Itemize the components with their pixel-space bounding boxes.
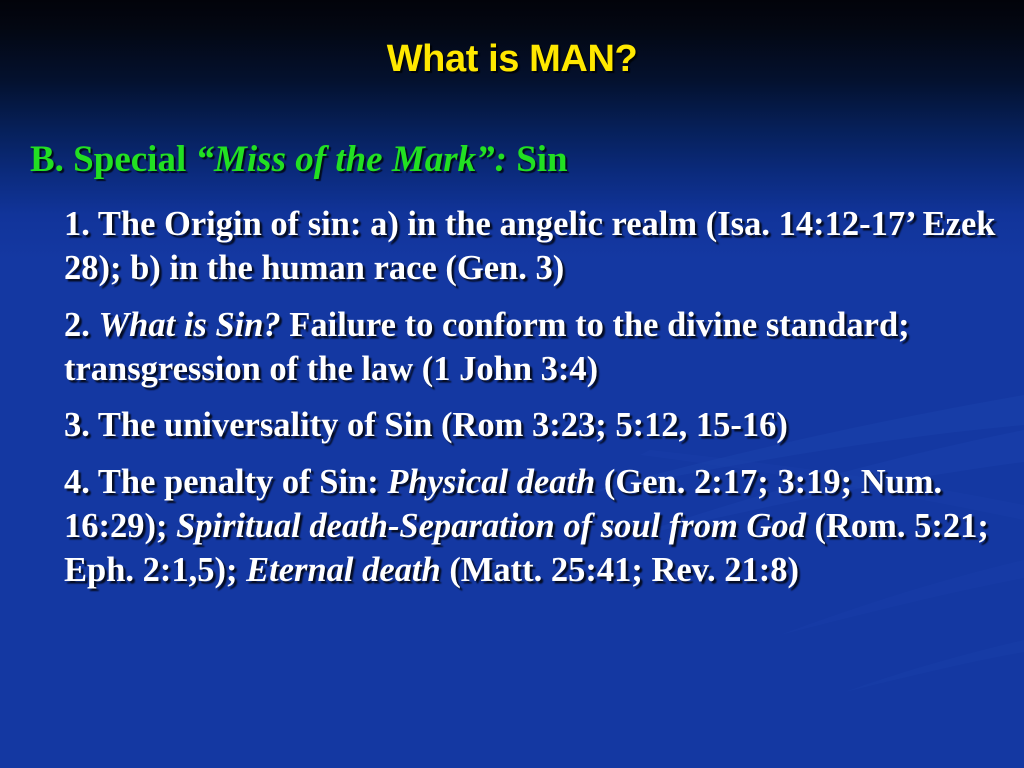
list-item: 4. The penalty of Sin: Physical death (G…: [64, 460, 1009, 593]
list-item-number: 2.: [64, 306, 90, 344]
list-item-number: 4.: [64, 463, 90, 501]
list-item-number: 3.: [64, 406, 90, 444]
list-item-text-run: Spiritual death-Separation of soul from …: [176, 507, 806, 545]
list-item-text-run: The Origin of sin: a) in the angelic rea…: [64, 205, 995, 287]
section-heading-prefix: B. Special: [30, 139, 196, 180]
list-item-text-run: Eternal death: [246, 551, 441, 589]
list-item-text-run: [90, 306, 99, 344]
slide-title: What is MAN?: [0, 38, 1024, 81]
section-heading-suffix: Sin: [516, 139, 567, 180]
list-item: 2. What is Sin? Failure to conform to th…: [64, 303, 1009, 392]
section-heading-quoted: “Miss of the Mark”:: [196, 139, 517, 180]
list-item-text-run: The universality of Sin (Rom 3:23; 5:12,…: [90, 406, 788, 444]
list-item: 1. The Origin of sin: a) in the angelic …: [64, 202, 1009, 291]
list-item-number: 1.: [64, 205, 90, 243]
list-item-text-run: The penalty of Sin:: [90, 463, 387, 501]
list-item: 3. The universality of Sin (Rom 3:23; 5:…: [64, 403, 1009, 447]
list-item-text-run: (Matt. 25:41; Rev. 21:8): [441, 551, 799, 589]
list-item-text-run: What is Sin?: [99, 306, 281, 344]
presentation-slide: What is MAN? B. Special “Miss of the Mar…: [0, 0, 1024, 768]
section-heading: B. Special “Miss of the Mark”: Sin: [30, 138, 568, 181]
slide-body-list: 1. The Origin of sin: a) in the angelic …: [64, 202, 1009, 593]
list-item-text-run: Physical death: [387, 463, 595, 501]
